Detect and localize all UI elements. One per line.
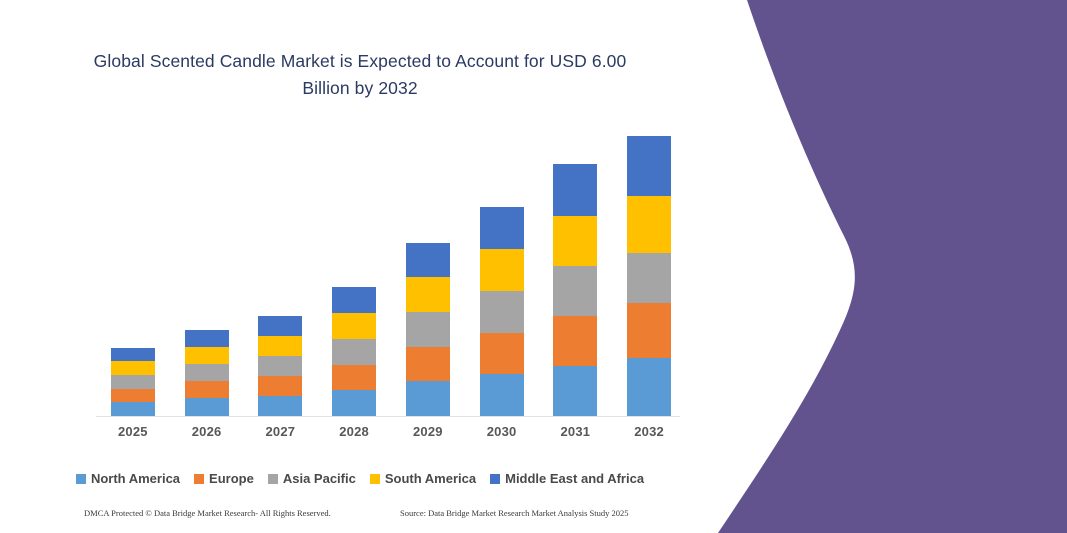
bar-segment: [185, 381, 229, 398]
x-axis-tick-label: 2032: [627, 424, 671, 439]
bar-segment: [111, 348, 155, 361]
legend-item[interactable]: South America: [370, 471, 476, 486]
x-axis-labels: 20252026202720282029203020312032: [96, 424, 686, 446]
x-axis-tick-label: 2031: [553, 424, 597, 439]
bar-segment: [553, 216, 597, 266]
bar-segment: [332, 339, 376, 365]
bar-segment: [480, 207, 524, 249]
legend-item[interactable]: Europe: [194, 471, 254, 486]
bar-segment: [406, 347, 450, 381]
bar-segment: [185, 364, 229, 381]
bar-segment: [258, 396, 302, 416]
brand-panel: Global Scented Candle Market, By Regions…: [680, 0, 1067, 533]
x-axis-tick-label: 2028: [332, 424, 376, 439]
bar-segment: [111, 389, 155, 403]
bar-segment: [258, 316, 302, 336]
infographic-slide: Global Scented Candle Market is Expected…: [0, 0, 1067, 533]
bar-segment: [332, 390, 376, 416]
bar-segment: [553, 366, 597, 416]
legend-color-swatch: [76, 474, 86, 484]
chart-legend: North AmericaEuropeAsia PacificSouth Ame…: [0, 471, 720, 486]
bar-segment: [406, 277, 450, 312]
bar-segment: [553, 316, 597, 365]
legend-label: Asia Pacific: [283, 471, 356, 486]
x-axis-tick-label: 2029: [406, 424, 450, 439]
bar-segment: [185, 347, 229, 364]
bar-segment: [406, 243, 450, 277]
bar-segment: [258, 356, 302, 376]
bar-column: [480, 207, 524, 416]
bar-column: [406, 243, 450, 416]
bar-segment: [553, 164, 597, 215]
bar-segment: [627, 196, 671, 254]
bar-segment: [406, 312, 450, 347]
bar-segment: [406, 381, 450, 416]
bar-segment: [332, 365, 376, 390]
bar-column: [111, 348, 155, 416]
bar-segment: [332, 313, 376, 339]
bar-column: [185, 330, 229, 416]
legend-label: South America: [385, 471, 476, 486]
chart-title: Global Scented Candle Market is Expected…: [70, 48, 650, 101]
bar-segment: [332, 287, 376, 313]
legend-label: North America: [91, 471, 180, 486]
bar-segment: [553, 266, 597, 316]
legend-item[interactable]: North America: [76, 471, 180, 486]
bar-segment: [627, 303, 671, 359]
x-axis-tick-label: 2030: [480, 424, 524, 439]
x-axis-tick-label: 2027: [258, 424, 302, 439]
bar-segment: [627, 358, 671, 416]
bar-segment: [111, 402, 155, 416]
bar-segment: [627, 136, 671, 196]
bar-column: [332, 287, 376, 416]
x-axis-line: [96, 416, 680, 417]
bar-segment: [480, 333, 524, 374]
bar-segment: [480, 374, 524, 416]
source-note: Source: Data Bridge Market Research Mark…: [400, 508, 629, 518]
x-axis-tick-label: 2025: [111, 424, 155, 439]
dmca-notice: DMCA Protected © Data Bridge Market Rese…: [84, 508, 331, 518]
chart-footer: DMCA Protected © Data Bridge Market Rese…: [0, 505, 720, 527]
legend-color-swatch: [490, 474, 500, 484]
x-axis-tick-label: 2026: [185, 424, 229, 439]
bar-segment: [258, 336, 302, 356]
legend-item[interactable]: Asia Pacific: [268, 471, 356, 486]
legend-item[interactable]: Middle East and Africa: [490, 471, 644, 486]
bar-column: [258, 316, 302, 416]
legend-color-swatch: [268, 474, 278, 484]
bar-segment: [185, 330, 229, 347]
legend-color-swatch: [370, 474, 380, 484]
bar-segment: [185, 398, 229, 416]
bar-column: [553, 164, 597, 416]
bar-segment: [480, 249, 524, 291]
legend-label: Middle East and Africa: [505, 471, 644, 486]
bar-segment: [111, 375, 155, 389]
legend-color-swatch: [194, 474, 204, 484]
bar-column: [627, 136, 671, 416]
purple-curved-background: [680, 0, 1067, 533]
stacked-bar-plot: [96, 120, 686, 416]
bar-segment: [111, 361, 155, 375]
legend-label: Europe: [209, 471, 254, 486]
bar-segment: [258, 376, 302, 396]
bar-segment: [480, 291, 524, 333]
bar-segment: [627, 253, 671, 302]
chart-panel: Global Scented Candle Market is Expected…: [0, 0, 720, 533]
